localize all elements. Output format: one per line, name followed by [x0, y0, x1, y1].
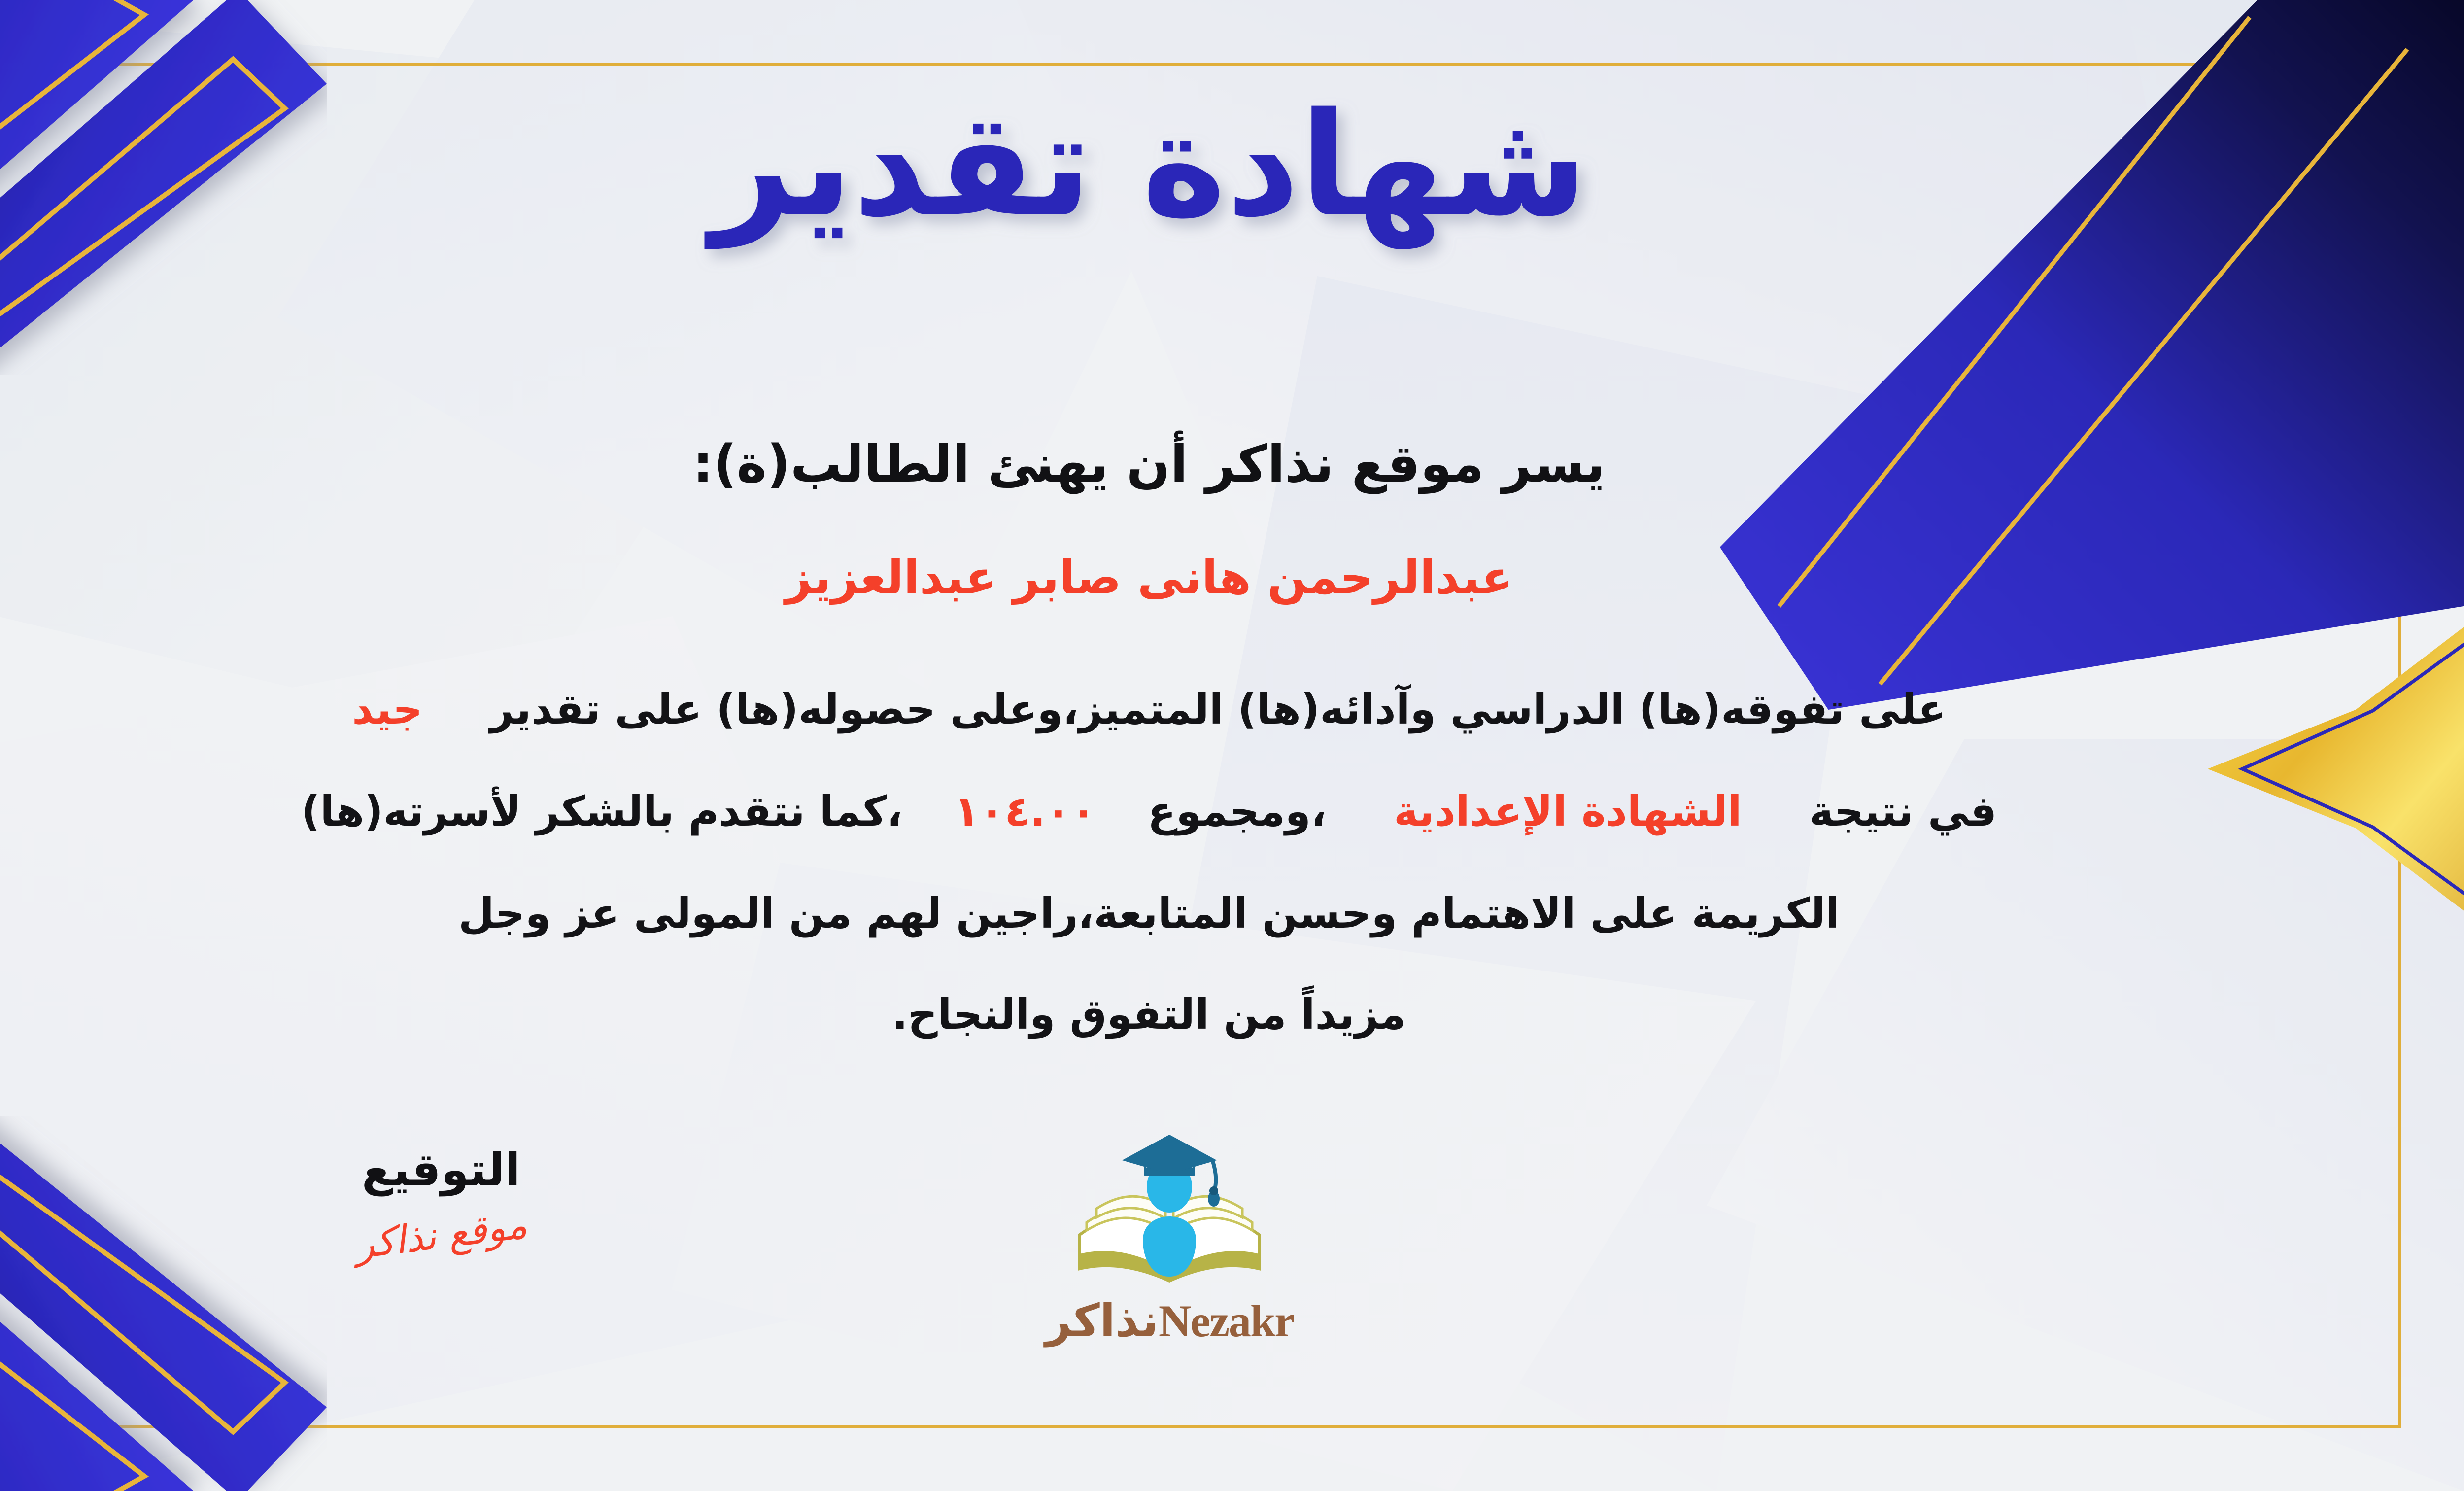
body-line-3: الكريمة على الاهتمام وحسن المتابعة،راجين…	[0, 889, 2464, 937]
site-logo: Nezakrنذاكر	[977, 1129, 1362, 1347]
signature-block: التوقيع موقع نذاكر	[269, 1144, 614, 1257]
grade-value: جيد	[352, 685, 422, 733]
exam-name: الشهادة الإعدادية	[1394, 787, 1742, 835]
total-label: ،ومجموع	[1148, 787, 1327, 835]
body-line-4: مزيداً من التفوق والنجاح.	[0, 990, 2464, 1039]
logo-wordmark: Nezakrنذاكر	[977, 1294, 1362, 1347]
result-prefix: في نتيجة	[1809, 787, 1997, 835]
signature-label: التوقيع	[269, 1144, 614, 1196]
body-line-1-text: على تفوقه(ها) الدراسي وآدائه(ها) المتميز…	[490, 685, 1946, 733]
body-line-2: في نتيجة الشهادة الإعدادية ،ومجموع ١٠٤.٠…	[0, 787, 2464, 835]
greeting-line: يسر موقع نذاكر أن يهنئ الطالب(ة):	[0, 434, 2464, 494]
signature-script: موقع نذاكر	[267, 1192, 615, 1279]
thanks-prefix: ،كما نتقدم بالشكر لأسرته(ها)	[301, 787, 902, 835]
logo-latin-text: Nezakr	[1159, 1296, 1294, 1346]
certificate-page: شهادة تقدير يسر موقع نذاكر أن يهنئ الطال…	[0, 0, 2464, 1491]
title-calligraphy: شهادة تقدير	[656, 52, 1642, 278]
graduate-book-logo-icon	[1071, 1129, 1268, 1291]
title-glyphs: شهادة تقدير	[703, 82, 1588, 250]
total-score: ١٠٤.٠٠	[954, 787, 1096, 835]
student-name: عبدالرحمن هانى صابر عبدالعزيز	[0, 551, 2464, 605]
certificate-title: شهادة تقدير	[0, 47, 2464, 283]
logo-arabic-text: نذاكر	[1045, 1294, 1159, 1347]
body-line-1: على تفوقه(ها) الدراسي وآدائه(ها) المتميز…	[0, 685, 2464, 733]
